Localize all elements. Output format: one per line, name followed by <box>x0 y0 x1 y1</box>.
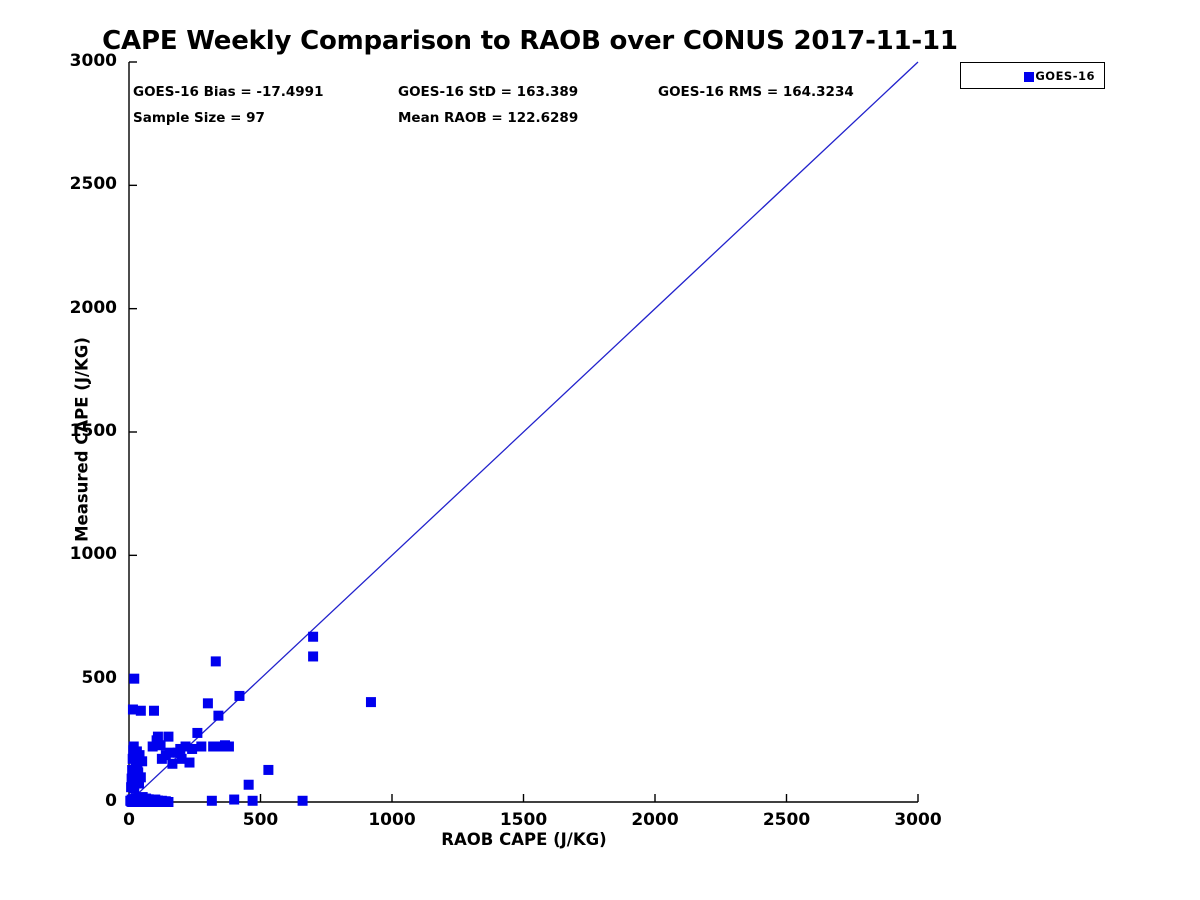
x-tick-label: 1500 <box>479 810 569 830</box>
x-axis-label: RAOB CAPE (J/KG) <box>129 830 919 849</box>
scatter-point <box>137 756 147 766</box>
scatter-point <box>263 765 273 775</box>
y-tick-label: 0 <box>47 791 117 811</box>
scatter-point <box>153 732 163 742</box>
x-tick-label: 1000 <box>347 810 437 830</box>
y-tick-label: 2500 <box>47 174 117 194</box>
scatter-point <box>196 742 206 752</box>
scatter-point <box>149 706 159 716</box>
x-tick-label: 2500 <box>742 810 832 830</box>
scatter-point <box>136 772 146 782</box>
scatter-point <box>234 691 244 701</box>
scatter-point <box>203 698 213 708</box>
scatter-point <box>366 697 376 707</box>
scatter-point <box>308 632 318 642</box>
scatter-point <box>211 656 221 666</box>
chart-figure: CAPE Weekly Comparison to RAOB over CONU… <box>0 0 1200 900</box>
legend: GOES-16 <box>960 62 1105 89</box>
scatter-point <box>298 796 308 806</box>
scatter-point <box>248 796 258 806</box>
legend-label-goes16: GOES-16 <box>1035 69 1095 83</box>
scatter-point <box>167 759 177 769</box>
y-tick-label: 1500 <box>47 421 117 441</box>
scatter-plot-canvas <box>0 0 1200 900</box>
x-tick-label: 0 <box>84 810 174 830</box>
scatter-point <box>224 742 234 752</box>
scatter-point <box>163 797 173 807</box>
x-tick-label: 3000 <box>873 810 963 830</box>
y-tick-label: 3000 <box>47 51 117 71</box>
scatter-point <box>192 728 202 738</box>
scatter-point <box>187 744 197 754</box>
scatter-point <box>213 711 223 721</box>
scatter-point <box>308 651 318 661</box>
y-tick-label: 1000 <box>47 544 117 564</box>
one-to-one-reference-line <box>129 62 918 802</box>
scatter-point <box>129 674 139 684</box>
y-tick-label: 500 <box>47 668 117 688</box>
scatter-point <box>156 740 166 750</box>
x-tick-label: 500 <box>216 810 306 830</box>
scatter-point <box>207 796 217 806</box>
scatter-point <box>184 758 194 768</box>
scatter-point <box>229 795 239 805</box>
scatter-point <box>244 780 254 790</box>
scatter-point <box>163 732 173 742</box>
y-tick-label: 2000 <box>47 298 117 318</box>
x-tick-label: 2000 <box>610 810 700 830</box>
legend-marker-icon <box>1024 72 1034 82</box>
scatter-point <box>136 706 146 716</box>
